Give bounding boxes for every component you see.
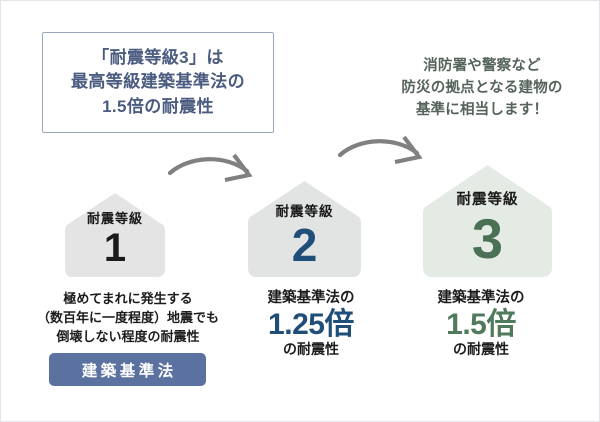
side-note-line-2: 防災の拠点となる建物の: [377, 77, 587, 99]
house-1-caption: 極めてまれに発生する （数百年に一度程度）地震でも 倒壊しない程度の耐震性: [23, 289, 233, 347]
grade-house-1: 耐震等級 1: [63, 191, 167, 279]
house-1-grade-label: 耐震等級: [87, 212, 143, 225]
house-2-caption-top: 建築基準法の: [232, 289, 390, 308]
intro-line-2: 最高等級建築基準法の: [71, 70, 245, 94]
intro-line-1: 「耐震等級3」は: [92, 46, 224, 70]
side-note: 消防署や警察など 防災の拠点となる建物の 基準に相当します！: [377, 55, 587, 121]
house-2-caption: 建築基準法の 1.25倍 の耐震性: [232, 289, 390, 358]
house-1-caption-line-1: 極めてまれに発生する: [23, 289, 233, 308]
house-1-caption-line-3: 倒壊しない程度の耐震性: [23, 327, 233, 346]
grade-house-2: 耐震等級 2: [246, 179, 363, 279]
building-standards-law-badge: 建築基準法: [49, 353, 206, 386]
grade-house-3: 耐震等級 3: [421, 163, 554, 279]
infographic-canvas: 「耐震等級3」は 最高等級建築基準法の 1.5倍の耐震性 消防署や警察など 防災…: [0, 0, 600, 422]
intro-line-3: 1.5倍の耐震性: [102, 95, 214, 119]
house-3-caption-bottom: の耐震性: [401, 341, 561, 359]
building-standards-law-badge-label: 建築基準法: [78, 359, 177, 381]
house-1-caption-line-2: （数百年に一度程度）地震でも: [23, 308, 233, 327]
house-2-caption-emphasis: 1.25倍: [232, 308, 390, 341]
house-3-caption-top: 建築基準法の: [401, 289, 561, 308]
side-note-line-1: 消防署や警察など: [377, 55, 587, 77]
house-3-grade-label: 耐震等級: [457, 193, 519, 208]
side-note-line-3: 基準に相当します！: [377, 99, 587, 121]
house-3-caption-emphasis: 1.5倍: [401, 308, 561, 341]
house-2-caption-bottom: の耐震性: [232, 341, 390, 359]
house-2-grade-number: 2: [292, 224, 318, 266]
house-1-grade-number: 1: [104, 230, 126, 267]
house-3-caption: 建築基準法の 1.5倍 の耐震性: [401, 289, 561, 358]
house-2-grade-label: 耐震等級: [276, 205, 334, 219]
intro-callout-box: 「耐震等級3」は 最高等級建築基準法の 1.5倍の耐震性: [42, 32, 274, 133]
house-3-grade-number: 3: [472, 213, 503, 265]
